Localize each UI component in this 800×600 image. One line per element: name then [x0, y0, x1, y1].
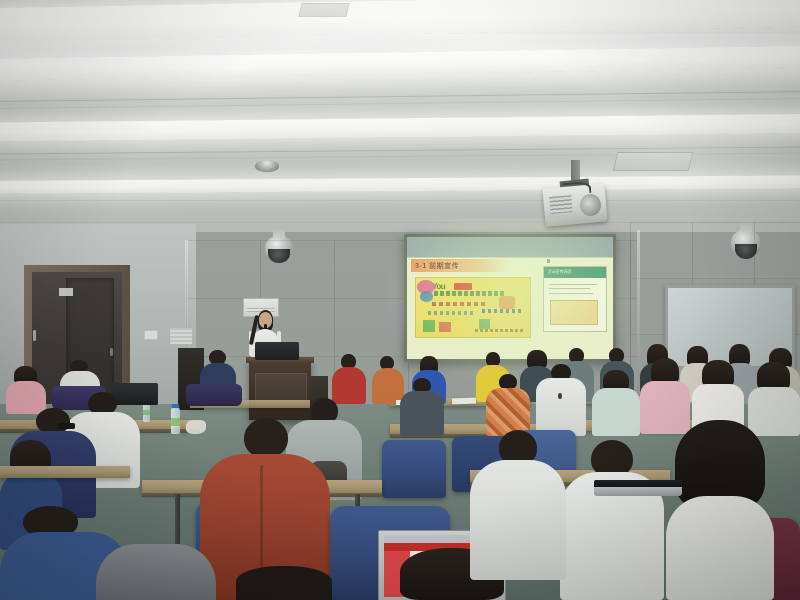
- slide-title: 3-1 前期宣传: [411, 261, 459, 271]
- projection-screen-frame: 3-1 前期宣传 You: [404, 234, 616, 362]
- door-sign: [59, 288, 73, 296]
- ceiling-light-strip: [0, 44, 800, 82]
- ceiling-light-strip: [0, 175, 800, 195]
- wall-outlet: [144, 330, 158, 340]
- backpack: [186, 384, 242, 406]
- laptop-podium[interactable]: [255, 342, 299, 360]
- ceiling: [0, 0, 800, 232]
- air-vent: [298, 3, 349, 17]
- attendee-red: [332, 354, 366, 404]
- paper-sheet: [452, 398, 476, 405]
- attendee-white-mid: [470, 430, 566, 580]
- attendee-white-back: [560, 440, 664, 600]
- glasses-icon: [58, 423, 75, 429]
- door-handle[interactable]: [33, 330, 36, 341]
- ceiling-light-strip: [0, 113, 800, 142]
- slide-poster-image: You: [415, 277, 530, 338]
- pointer-artifact: [547, 259, 550, 263]
- shirt: [666, 496, 774, 600]
- attendee-longhair: [666, 420, 774, 600]
- water-bottle: [170, 404, 181, 434]
- projection-screen: 3-1 前期宣传 You: [407, 237, 613, 359]
- laptop-right-lid: [594, 480, 682, 487]
- attendee-white-shirt: [536, 364, 586, 436]
- slide-title-bar: 3-1 前期宣传: [411, 259, 510, 272]
- slide-sub-title: 活动宣传网页: [548, 269, 572, 275]
- chair[interactable]: [382, 440, 446, 498]
- shirt-detail: [558, 393, 562, 399]
- air-vent: [613, 152, 694, 171]
- slide: 3-1 前期宣传 You: [407, 237, 613, 359]
- attendee-bottom-1: [236, 566, 332, 600]
- attendee-foreground-left2: [96, 544, 216, 600]
- slide-sub-panel: 活动宣传网页: [543, 266, 607, 331]
- attendee-mid-left: [400, 378, 444, 436]
- attendee-mid-dark: [592, 370, 640, 436]
- laptop-right-desk[interactable]: [594, 486, 682, 496]
- attendee-left-3: [6, 366, 46, 414]
- attendee-plaid: [486, 374, 530, 436]
- desk: [0, 466, 130, 478]
- wall-vent-small: [170, 328, 192, 344]
- smoke-detector: [255, 160, 279, 172]
- classroom-photo: 3-1 前期宣传 You: [0, 0, 800, 600]
- projector: [544, 186, 606, 224]
- door-handle[interactable]: [110, 348, 113, 356]
